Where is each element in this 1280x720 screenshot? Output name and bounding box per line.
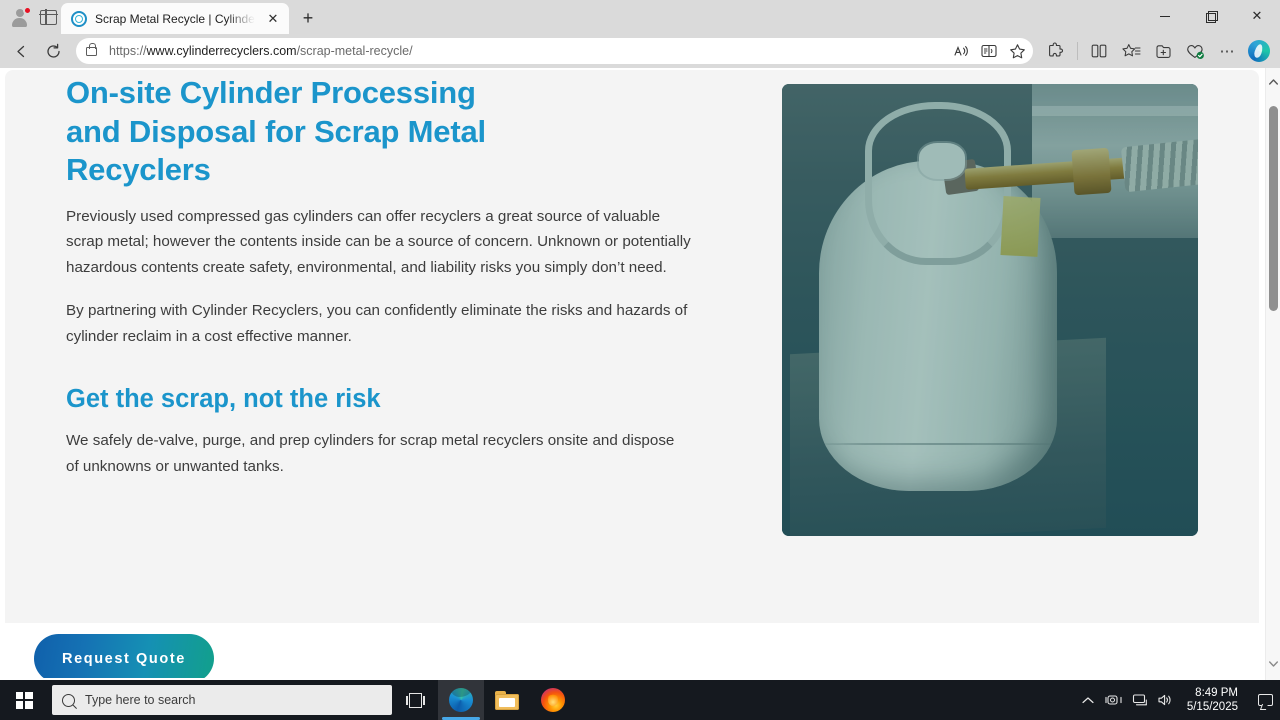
task-view-button[interactable] [392,680,438,720]
refresh-icon[interactable] [38,37,68,65]
vertical-tabs-icon[interactable] [40,10,57,25]
folder-face [499,698,515,707]
task-view-left [406,696,408,705]
request-quote-button[interactable]: Request Quote [34,634,214,678]
folder-icon [495,691,519,710]
address-bar[interactable]: https://www.cylinderrecyclers.com/scrap-… [76,38,1033,64]
hero-paragraph-3: We safely de-valve, purge, and prep cyli… [66,428,691,479]
propane-cylinder-photo [782,84,1198,536]
taskbar-clock[interactable]: 8:49 PM 5/15/2025 [1179,680,1250,720]
windows-logo-quadrant [16,701,24,709]
profile-notification-dot [23,6,32,15]
task-view-icon [406,693,425,708]
hero-paragraph-2: By partnering with Cylinder Recyclers, y… [66,298,691,349]
volume-icon[interactable] [1153,680,1179,720]
taskbar-app-mozilla-firefox[interactable] [530,680,576,720]
add-to-collections-icon[interactable] [1148,37,1178,65]
back-icon[interactable] [6,37,36,65]
url-path: /scrap-metal-recycle/ [297,44,413,58]
windows-logo-icon [16,692,33,709]
lock-icon[interactable] [86,47,97,56]
minimize-button[interactable] [1142,0,1188,32]
page-scrollbar[interactable] [1265,68,1280,680]
read-aloud-icon[interactable] [947,39,975,63]
browser-tab[interactable]: Scrap Metal Recycle | Cylinder Pr ✕ [61,3,289,34]
tabstrip-left-icons [0,0,61,34]
url-scheme: https:// [109,44,147,58]
browser-window: Scrap Metal Recycle | Cylinder Pr ✕ + ✕ … [0,0,1280,680]
search-placeholder: Type here to search [85,693,195,707]
new-tab-button[interactable]: + [293,4,323,32]
task-view-center [409,693,422,708]
clock-date: 5/15/2025 [1187,700,1238,714]
copilot-button[interactable] [1244,37,1274,65]
clock-time: 8:49 PM [1195,686,1238,700]
url-host: www.cylinderrecyclers.com [147,44,297,58]
firefox-icon [541,688,565,712]
browser-essentials-icon[interactable] [1180,37,1210,65]
immersive-reader-icon[interactable] [975,39,1003,63]
taskbar-app-microsoft-edge[interactable] [438,680,484,720]
taskbar-app-file-explorer[interactable] [484,680,530,720]
scroll-down-arrow-icon[interactable] [1266,656,1280,672]
close-tab-icon[interactable]: ✕ [263,9,283,29]
web-page: On-site Cylinder Processing and Disposal… [5,70,1259,678]
page-viewport: On-site Cylinder Processing and Disposal… [0,68,1280,680]
windows-logo-quadrant [25,692,33,700]
task-view-right [423,696,425,705]
start-button[interactable] [0,680,48,720]
hero-section: On-site Cylinder Processing and Disposal… [5,70,1259,623]
network-icon[interactable] [1127,680,1153,720]
hero-subheading: Get the scrap, not the risk [66,383,706,415]
tab-title: Scrap Metal Recycle | Cylinder Pr [95,12,255,26]
windows-logo-quadrant [16,692,24,700]
scrollbar-thumb[interactable] [1269,106,1278,311]
hero-paragraph-1: Previously used compressed gas cylinders… [66,204,691,281]
taskbar-search-input[interactable]: Type here to search [52,685,392,715]
add-favorite-icon[interactable] [1003,39,1031,63]
page-title: On-site Cylinder Processing and Disposal… [66,74,536,190]
address-bar-actions [947,39,1031,63]
action-center-button[interactable] [1250,680,1280,720]
collections-icon[interactable] [1116,37,1146,65]
extensions-icon[interactable] [1041,37,1071,65]
cylinder-recyclers-favicon [71,11,87,27]
settings-and-more-icon[interactable]: ⋯ [1212,37,1242,65]
photo-teal-tint [782,84,1198,536]
tab-strip: Scrap Metal Recycle | Cylinder Pr ✕ + ✕ [0,0,1280,34]
window-controls: ✕ [1142,0,1280,32]
hero-text-column: On-site Cylinder Processing and Disposal… [66,74,706,497]
search-icon [59,691,77,709]
toolbar-divider [1077,42,1078,60]
copilot-icon [1248,40,1270,62]
webcam-icon[interactable] [1101,680,1127,720]
close-window-button[interactable]: ✕ [1234,0,1280,32]
system-tray: 8:49 PM 5/15/2025 [1075,680,1280,720]
profile-avatar-button[interactable] [8,5,32,29]
windows-taskbar: Type here to search 8:49 PM [0,680,1280,720]
hero-inner: On-site Cylinder Processing and Disposal… [5,70,1259,623]
show-hidden-icons-button[interactable] [1075,680,1101,720]
edge-icon [449,688,473,712]
notification-icon [1258,694,1273,706]
windows-logo-quadrant [25,701,33,709]
url-text: https://www.cylinderrecyclers.com/scrap-… [109,44,947,58]
browser-toolbar: https://www.cylinderrecyclers.com/scrap-… [0,34,1280,68]
maximize-restore-button[interactable] [1188,0,1234,32]
scroll-up-arrow-icon[interactable] [1266,74,1280,90]
split-screen-icon[interactable] [1084,37,1114,65]
